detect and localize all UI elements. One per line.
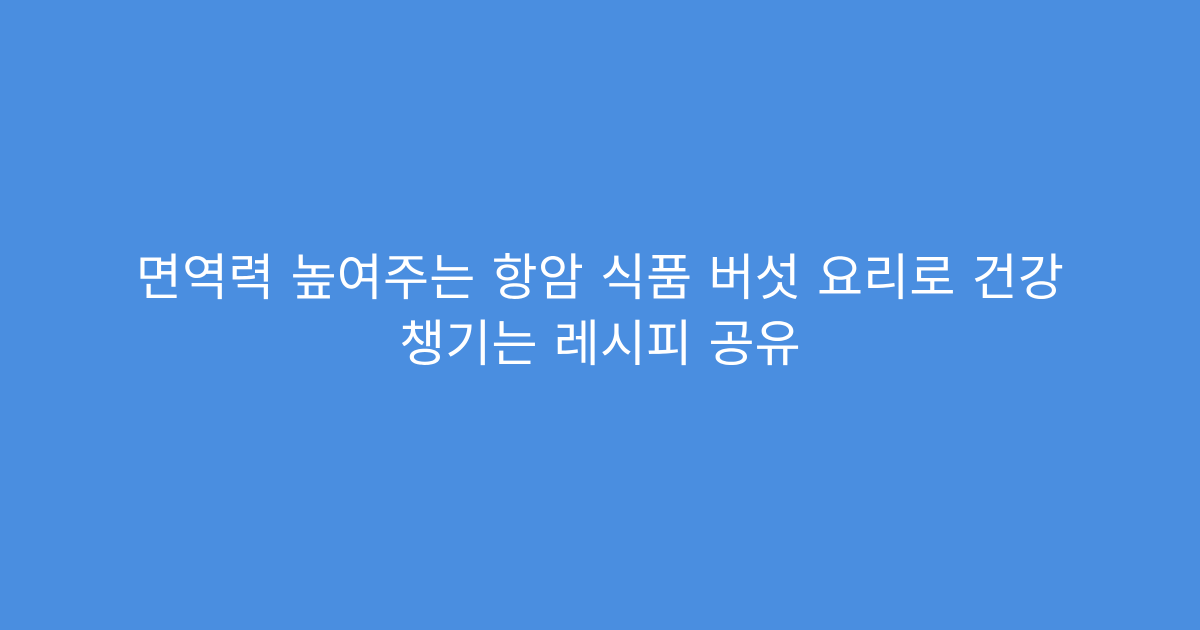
page-title: 면역력 높여주는 항암 식품 버섯 요리로 건강 챙기는 레시피 공유 [100, 245, 1100, 377]
headline-block: 면역력 높여주는 항암 식품 버섯 요리로 건강 챙기는 레시피 공유 [100, 245, 1100, 377]
social-share-card: 면역력 높여주는 항암 식품 버섯 요리로 건강 챙기는 레시피 공유 [0, 0, 1200, 630]
